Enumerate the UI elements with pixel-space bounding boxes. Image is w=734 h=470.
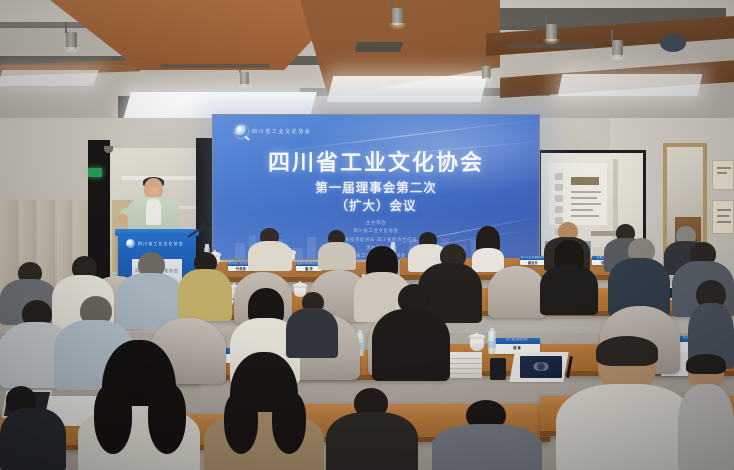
podium-logo-icon	[126, 239, 135, 248]
chair	[488, 266, 546, 318]
attendee-r2-5	[286, 292, 338, 356]
led-panel-2	[327, 76, 487, 102]
water-bottle	[488, 328, 496, 354]
ceiling-duct-2	[508, 44, 594, 48]
wall-poster-2	[712, 200, 734, 234]
podium-top	[115, 229, 199, 236]
attendee-back-2	[318, 230, 356, 270]
attendee-front-5	[432, 400, 542, 470]
notebook-emblem	[533, 362, 550, 371]
teacup	[470, 334, 484, 351]
association-logo-icon	[235, 125, 248, 138]
speaker-face	[148, 187, 159, 195]
attendee-front-7	[678, 356, 734, 470]
speaker-hand	[118, 214, 128, 223]
speaker-shirt	[146, 199, 161, 225]
microphone-icon	[188, 222, 210, 244]
notice-board	[549, 163, 607, 225]
podium-logo-text: 四川省工业文化协会	[138, 241, 184, 247]
ceiling-duct-1	[160, 64, 270, 68]
slide-title: 四川省工业文化协会	[213, 145, 539, 177]
attendee-back-1	[248, 228, 292, 270]
podium-logo: 四川省工业文化协会	[126, 239, 184, 248]
attendee-r2-4	[372, 284, 450, 380]
cctv-camera-icon	[104, 146, 113, 153]
attendee-r3-7	[540, 240, 598, 314]
attendee-front-1	[0, 386, 66, 470]
ceiling-speaker-box	[355, 42, 404, 52]
attendee-r3-8	[608, 238, 670, 314]
slide-logo: 四川省工业文化协会	[235, 125, 311, 138]
conference-photo-scene: 四川省工业文化协会 四川省工业文化协会 第一届理事会第二次 （扩大）会议 主办单…	[0, 0, 734, 470]
attendee-front-4	[326, 388, 418, 470]
placard-name: 理 事	[494, 345, 540, 350]
led-panel-3	[558, 74, 703, 96]
wall-poster-1	[712, 160, 734, 190]
phone	[490, 358, 506, 380]
led-panel-4	[0, 70, 99, 86]
ceiling	[0, 0, 734, 132]
exit-sign-icon	[88, 168, 102, 177]
attendee-front-3	[204, 352, 324, 470]
attendee-front-2	[74, 340, 204, 470]
slide-subtitle-line2: （扩大）会议	[213, 195, 539, 214]
ceiling-projector	[660, 34, 686, 52]
slide-logo-text: 四川省工业文化协会	[252, 128, 311, 135]
placard-org: 四川省投资促进局	[494, 338, 540, 342]
attendee-front-6	[556, 338, 696, 470]
attendee-r3-4	[178, 252, 232, 320]
slide-subtitle-line1: 第一届理事会第二次	[213, 177, 539, 196]
